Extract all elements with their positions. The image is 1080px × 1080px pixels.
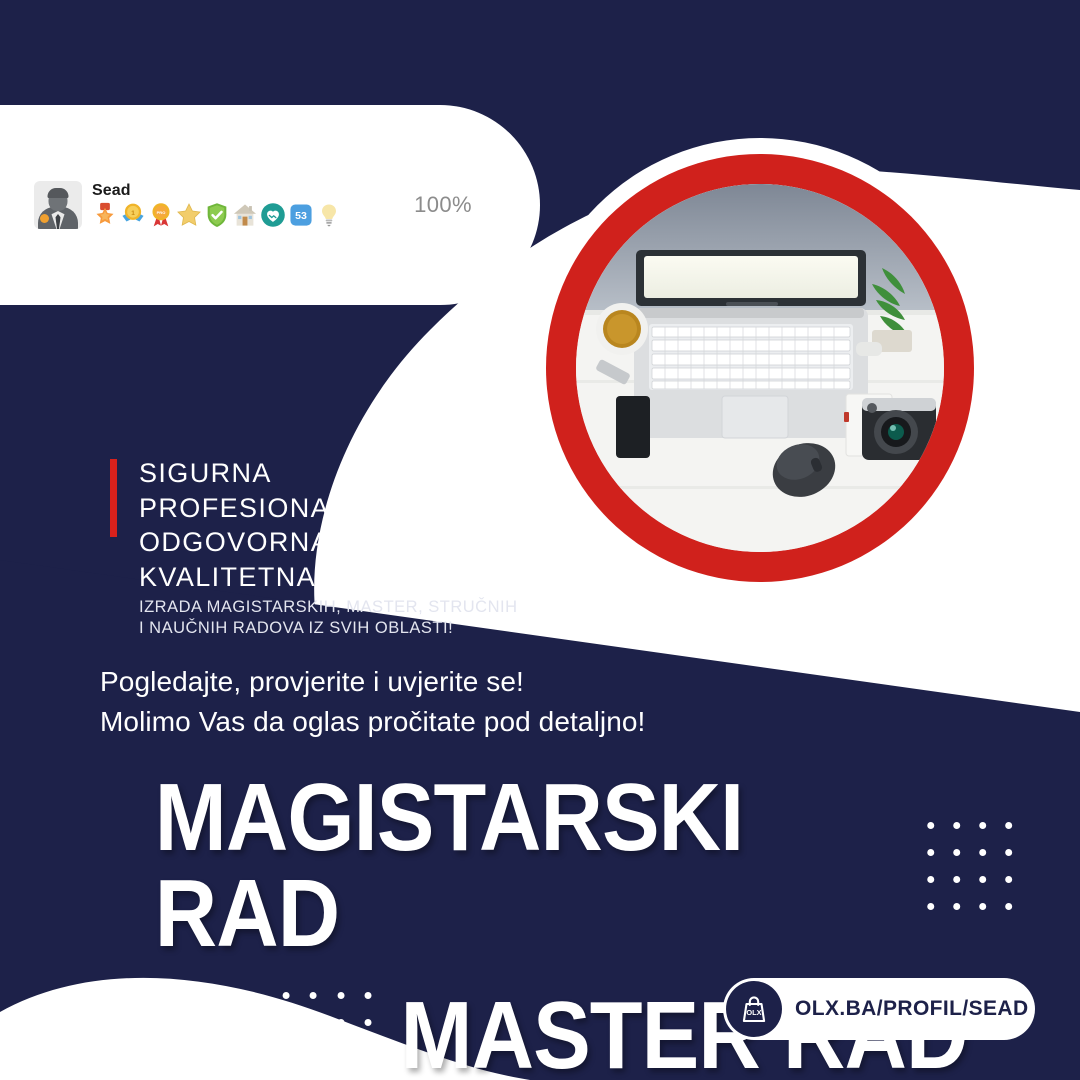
- subclaim-line-2: I NAUČNIH RADOVA IZ SVIH OBLASTI!: [139, 618, 517, 639]
- subclaim-block: IZRADA MAGISTARSKIH, MASTER, STRUČNIH I …: [139, 597, 517, 639]
- invite-line-2: Molimo Vas da oglas pročitate pod detalj…: [100, 702, 645, 742]
- claim-line-2: PROFESIONALNA: [139, 491, 387, 526]
- svg-text:PRO: PRO: [157, 210, 166, 215]
- desk-photo: [576, 184, 944, 552]
- handshake-heart-icon: [260, 202, 286, 228]
- claim-line-4: KVALITETNA: [139, 560, 387, 595]
- subclaim-line-1: IZRADA MAGISTARSKIH, MASTER, STRUČNIH: [139, 597, 517, 618]
- svg-text:OLX: OLX: [746, 1008, 761, 1017]
- olx-logo-circle: OLX: [726, 981, 782, 1037]
- verified-shield-icon: [204, 202, 230, 228]
- claim-line-1: SIGURNA: [139, 456, 387, 491]
- invite-line-1: Pogledajte, provjerite i uvjerite se!: [100, 662, 645, 702]
- poster-canvas: Sead 1: [0, 0, 1080, 1080]
- award-rosette-icon: PRO: [148, 202, 174, 228]
- headline-row-1: MAGISTARSKI RAD: [54, 770, 1026, 962]
- dot-grid-right: [927, 812, 1031, 920]
- first-place-medal-icon: 1: [120, 202, 146, 228]
- profile-completion-percent: 100%: [414, 192, 516, 218]
- glowing-star-badge-icon: [92, 202, 118, 228]
- number-square-icon: 53: [288, 202, 314, 228]
- lightbulb-icon: [316, 202, 342, 228]
- badge-row: 1 PRO: [92, 202, 342, 228]
- dot-grid-left: [283, 982, 392, 1080]
- olx-shopping-bag-icon: OLX: [738, 993, 770, 1025]
- svg-text:1: 1: [131, 210, 135, 217]
- profile-url-text: OLX.BA/PROFIL/SEAD: [795, 997, 1029, 1021]
- claim-line-3: ODGOVORNA: [139, 525, 387, 560]
- avatar: [34, 181, 82, 229]
- profile-meta: Sead 1: [92, 182, 342, 228]
- claims-block: SIGURNA PROFESIONALNA ODGOVORNA KVALITET…: [139, 456, 387, 594]
- star-icon: [176, 202, 202, 228]
- headline-line-1: MAGISTARSKI RAD: [155, 770, 913, 962]
- invite-block: Pogledajte, provjerite i uvjerite se! Mo…: [100, 662, 645, 742]
- profile-card[interactable]: Sead 1: [0, 105, 540, 305]
- profile-name: Sead: [92, 182, 342, 200]
- accent-bar: [110, 459, 117, 537]
- profile-url-badge[interactable]: OLX OLX.BA/PROFIL/SEAD: [723, 978, 1035, 1040]
- house-icon: [232, 202, 258, 228]
- badge-count-value: 53: [295, 210, 307, 222]
